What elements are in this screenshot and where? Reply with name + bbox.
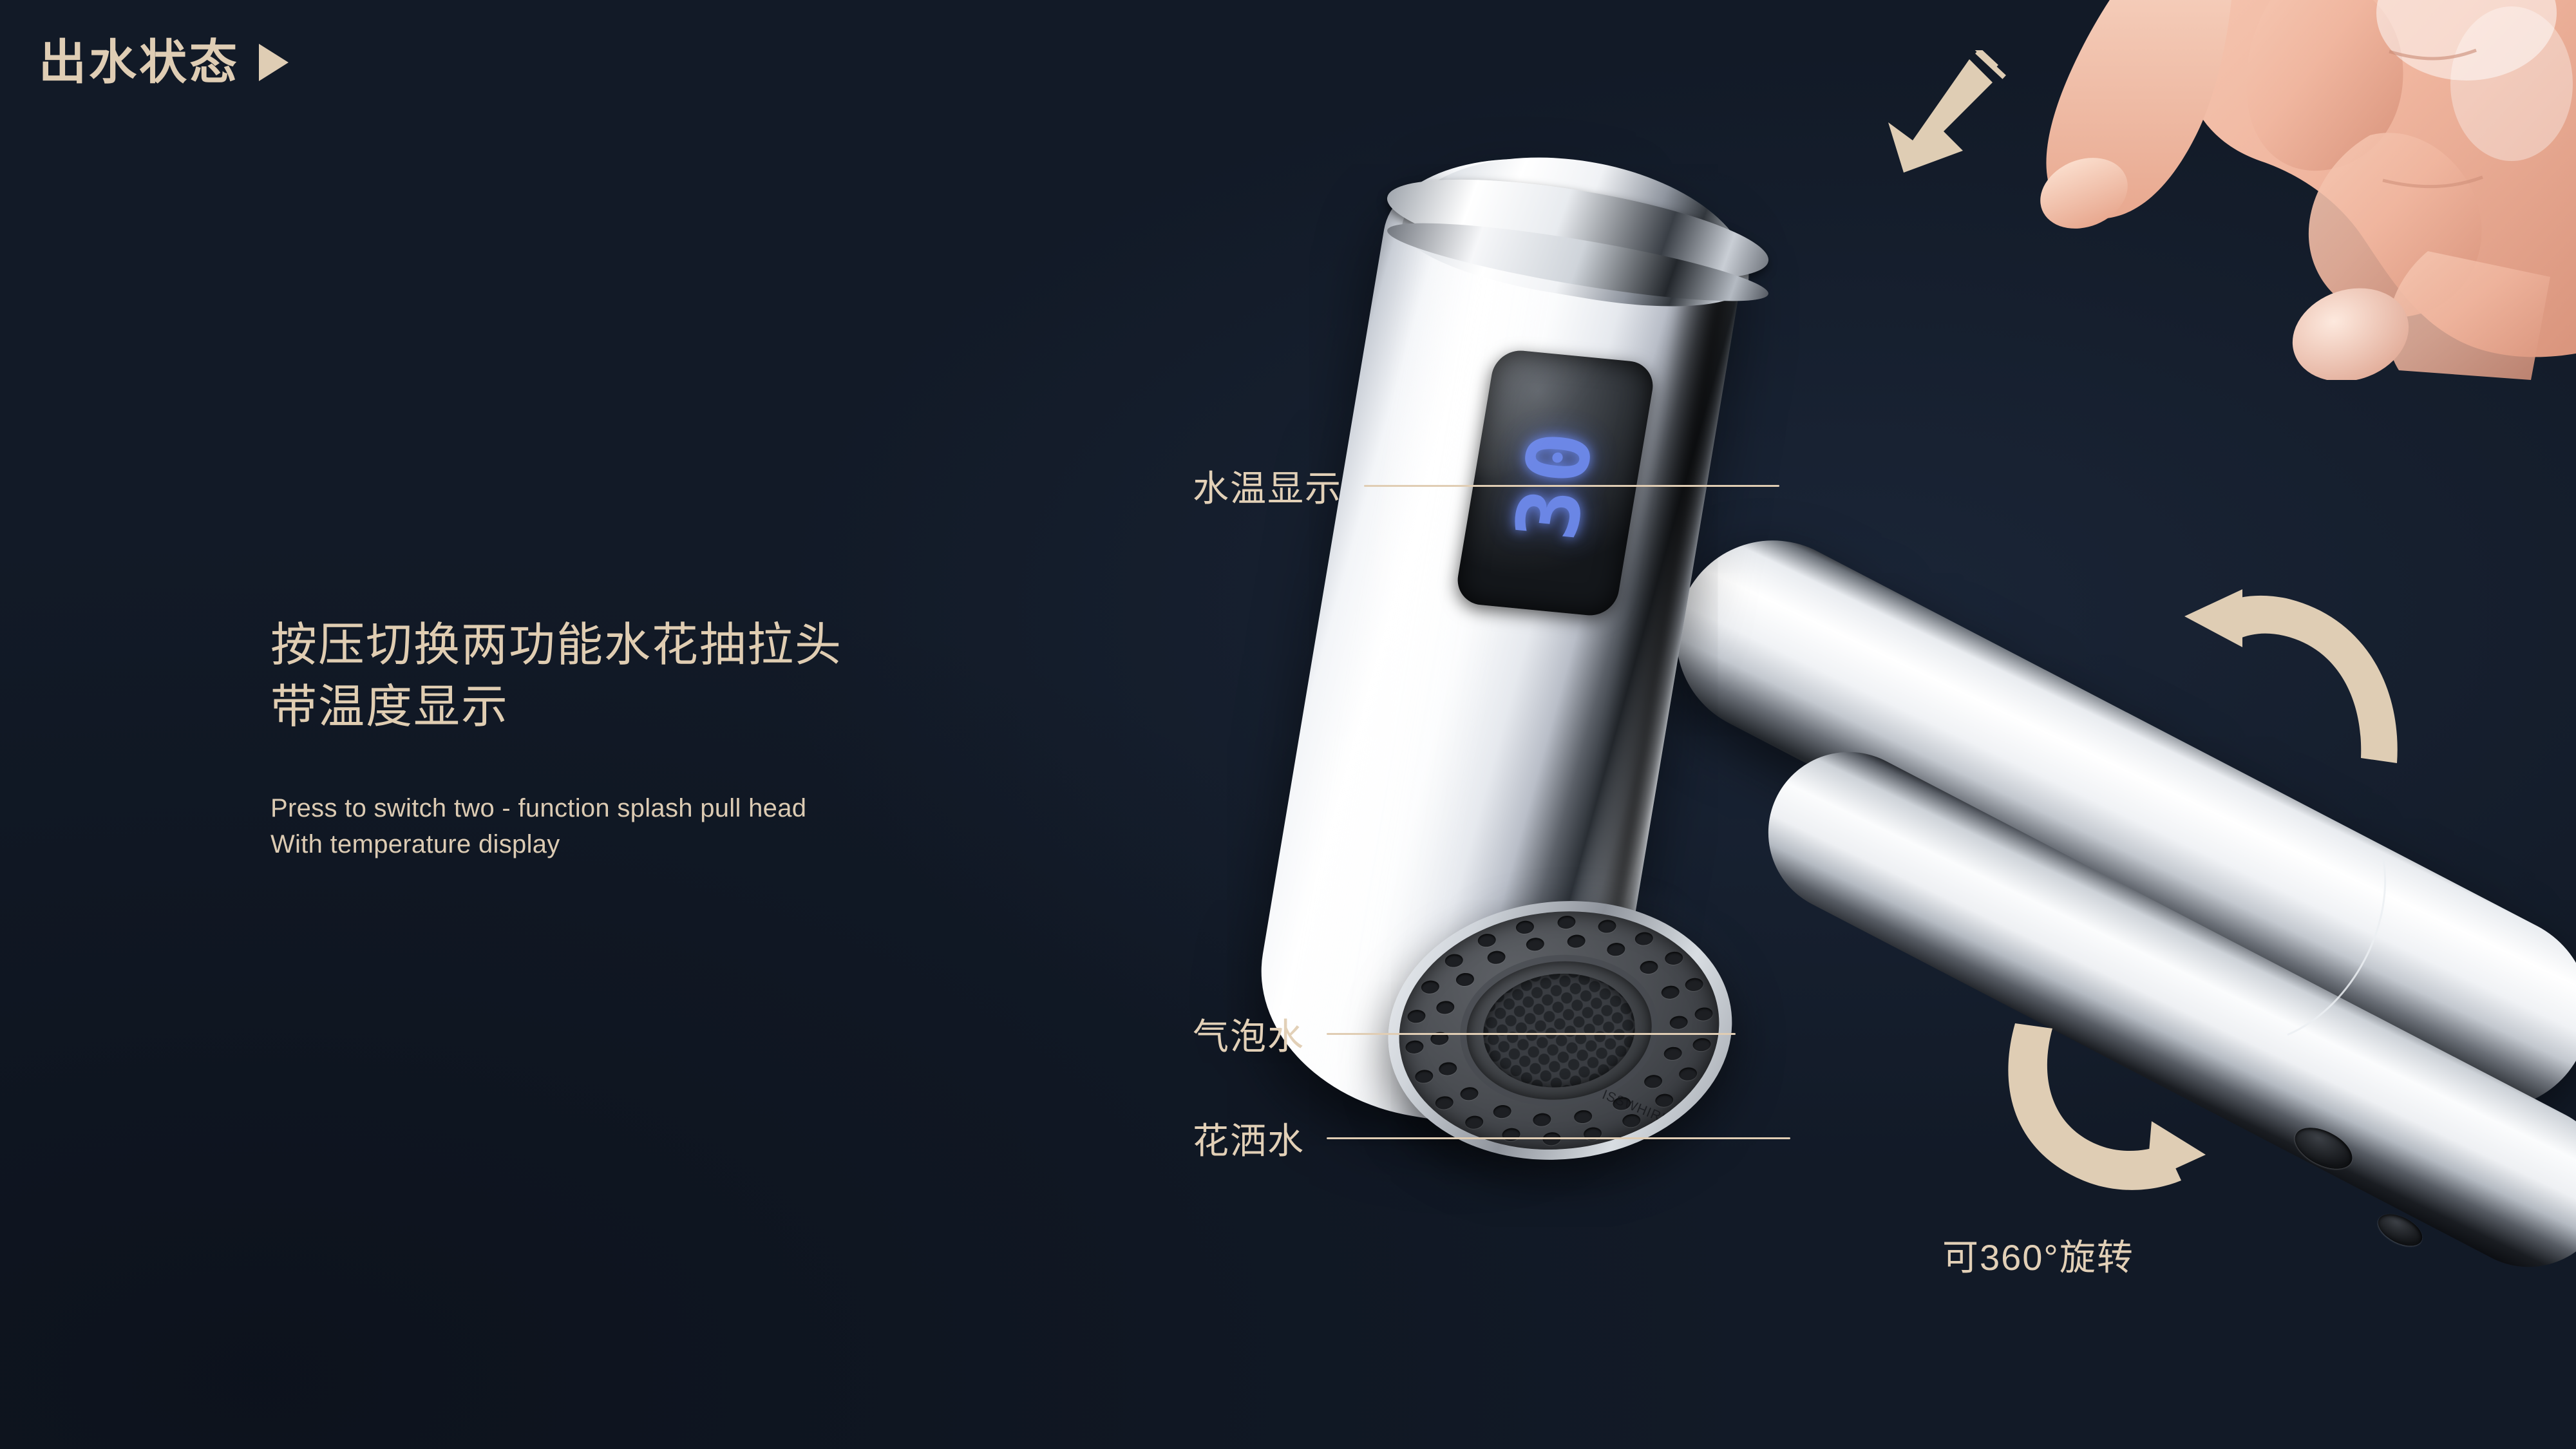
callout-label: 花洒水 <box>1193 1112 1305 1164</box>
shower-hole <box>1438 1061 1457 1076</box>
shower-hole <box>1455 972 1475 987</box>
shower-hole <box>1685 977 1704 992</box>
shower-hole <box>1639 960 1658 974</box>
shower-hole <box>1597 919 1616 934</box>
callout-leader-line <box>1327 1033 1736 1035</box>
shower-hole <box>1567 934 1586 949</box>
shower-hole <box>1664 951 1683 966</box>
headline-en-line1: Press to switch two - function splash pu… <box>270 790 842 827</box>
shower-hole <box>1435 1095 1454 1110</box>
rotate-counterclockwise-icon <box>2170 576 2409 782</box>
callout-leader-line <box>1327 1137 1790 1139</box>
rotate-clockwise-icon <box>1993 995 2264 1198</box>
shower-hole <box>1557 915 1576 930</box>
slide-background: 出水状态 30 ISS <box>0 0 2576 1449</box>
headline-en-line2: With temperature display <box>270 826 842 863</box>
headline-en: Press to switch two - function splash pu… <box>270 790 842 864</box>
shower-hole <box>1606 942 1625 957</box>
shower-hole <box>1477 933 1497 947</box>
shower-hole <box>1421 980 1440 994</box>
press-down-arrow-icon <box>1866 50 2014 182</box>
callout-shower-water: 花洒水 <box>1193 1112 1790 1164</box>
headline-cn-line2: 带温度显示 <box>270 677 842 739</box>
shower-hole <box>1661 985 1680 1000</box>
callout-water-temperature-display: 水温显示 <box>1193 460 1779 512</box>
shower-hole <box>1486 951 1506 965</box>
callout-label: 气泡水 <box>1193 1008 1305 1060</box>
shower-hole <box>1634 931 1653 946</box>
shower-hole <box>1444 953 1464 968</box>
rotation-label: 可360°旋转 <box>1942 1229 2134 1281</box>
callout-label: 水温显示 <box>1193 460 1342 512</box>
shower-hole <box>1460 1086 1479 1101</box>
shower-hole <box>1515 920 1535 934</box>
shower-hole <box>1525 937 1544 952</box>
callout-aerated-water: 气泡水 <box>1193 1008 1736 1060</box>
shower-hole <box>1678 1067 1698 1082</box>
shower-hole <box>1414 1070 1434 1084</box>
shower-hole <box>1643 1074 1663 1089</box>
feature-description: 按压切换两功能水花抽拉头 带温度显示 Press to switch two -… <box>270 615 842 863</box>
shower-hole <box>1654 1093 1674 1108</box>
headline-cn-line1: 按压切换两功能水花抽拉头 <box>270 615 842 677</box>
callout-leader-line <box>1364 485 1779 487</box>
